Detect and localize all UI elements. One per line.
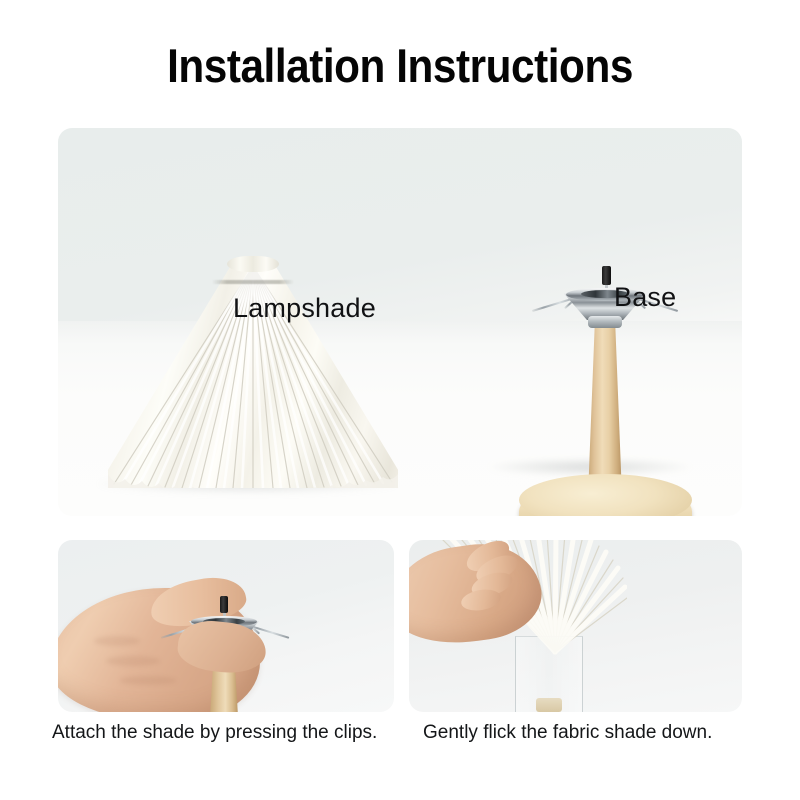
step-2-panel	[409, 540, 742, 712]
power-switch-icon	[602, 266, 611, 285]
hand-crease	[94, 636, 140, 646]
chrome-socket-collar	[588, 316, 622, 328]
base-image	[490, 188, 720, 488]
hand-crease	[106, 656, 160, 666]
hand-crease	[120, 676, 176, 685]
base-wooden-post	[588, 306, 622, 496]
step-2-image	[409, 540, 742, 712]
callout-label-base: Base	[614, 282, 676, 313]
lampshade-image	[108, 248, 398, 498]
base-disc-top-face	[519, 474, 692, 516]
lampshade-stitch-band	[212, 280, 294, 284]
bulb-holder	[536, 698, 562, 712]
step-2-caption: Gently flick the fabric shade down.	[423, 722, 712, 744]
callout-label-lampshade: Lampshade	[233, 293, 376, 324]
power-switch-icon	[220, 596, 228, 613]
step-1-caption: Attach the shade by pressing the clips.	[52, 722, 377, 744]
page-title: Installation Instructions	[40, 40, 760, 92]
parts-overview-panel: Lampshade Base	[58, 128, 742, 516]
step-1-image	[58, 540, 394, 712]
installation-instructions-page: Installation Instructions	[0, 0, 800, 800]
step-1-panel	[58, 540, 394, 712]
lampshade-top-ring	[227, 256, 279, 272]
